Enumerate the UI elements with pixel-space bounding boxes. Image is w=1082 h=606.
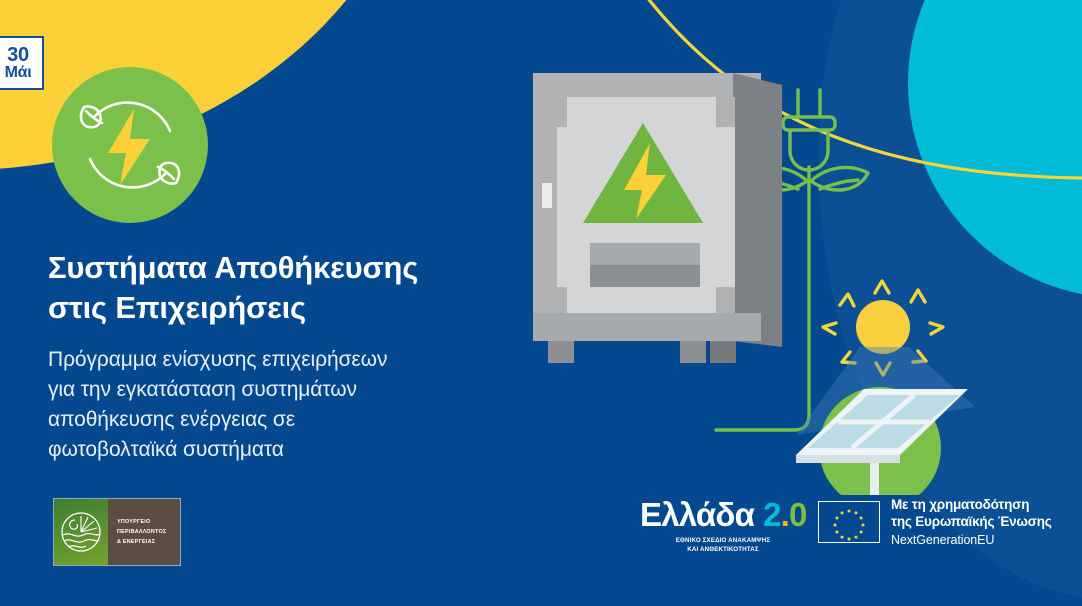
subtitle-line-4: φωτοβολταϊκά συστήματα: [48, 438, 284, 461]
ministry-line-1: ΥΠΟΥΡΓΕΙΟ: [117, 517, 180, 527]
subtitle-line-1: Πρόγραμμα ενίσχυσης επιχειρήσεων: [48, 348, 387, 371]
eu-line-3: NextGenerationEU: [891, 532, 1052, 548]
greece-sub-line-2: ΚΑΙ ΑΝΘΕΚΤΙΚΟΤΗΤΑΣ: [640, 545, 806, 554]
date-badge: 30 Μάι: [0, 36, 44, 90]
title-line-2: στις Επιχειρήσεις: [48, 290, 306, 325]
subtitle-line-2: για την εγκατάσταση συστημάτων: [48, 378, 357, 401]
greece-num-2: 2: [763, 496, 781, 533]
greece-subtitle: ΕΘΝΙΚΟ ΣΧΕΔΙΟ ΑΝΑΚΑΜΨΗΣ ΚΑΙ ΑΝΘΕΚΤΙΚΟΤΗΤ…: [640, 536, 806, 555]
eu-line-2: της Ευρωπαϊκής Ένωσης: [891, 513, 1052, 530]
eu-line-1: Με τη χρηματοδότηση: [891, 496, 1052, 513]
subtitle-line-3: αποθήκευσης ενέργειας σε: [48, 408, 295, 431]
title-line-1: Συστήματα Αποθήκευσης: [48, 250, 418, 285]
title-block: Συστήματα Αποθήκευσης στις Επιχειρήσεις …: [48, 248, 518, 465]
eu-funding-logo: Με τη χρηματοδότηση της Ευρωπαϊκής Ένωση…: [818, 496, 1052, 548]
ministry-text: ΥΠΟΥΡΓΕΙΟ ΠΕΡΙΒΑΛΛΟΝΤΟΣ & ΕΝΕΡΓΕΙΑΣ: [108, 499, 180, 565]
poster-canvas: 30 Μάι Συστήματα Αποθήκευσης στις Επιχει…: [0, 0, 1082, 606]
date-month: Μάι: [5, 65, 32, 81]
ministry-emblem-icon: [54, 499, 108, 565]
page-subtitle: Πρόγραμμα ενίσχυσης επιχειρήσεων για την…: [48, 345, 518, 464]
eu-text: Με τη χρηματοδότηση της Ευρωπαϊκής Ένωση…: [891, 496, 1052, 548]
energy-storage-illustration: [520, 55, 1080, 495]
energy-recycle-icon: [50, 65, 210, 225]
battery-storage-cabinet: [533, 73, 782, 363]
sun-disc: [856, 300, 910, 354]
greece-dot: .: [781, 496, 789, 533]
ministry-logo: ΥΠΟΥΡΓΕΙΟ ΠΕΡΙΒΑΛΛΟΝΤΟΣ & ΕΝΕΡΓΕΙΑΣ: [53, 498, 181, 566]
page-title: Συστήματα Αποθήκευσης στις Επιχειρήσεις: [48, 248, 518, 327]
ministry-line-3: & ΕΝΕΡΓΕΙΑΣ: [117, 537, 180, 547]
greece-sub-line-1: ΕΘΝΙΚΟ ΣΧΕΔΙΟ ΑΝΑΚΑΜΨΗΣ: [640, 536, 806, 545]
footer-logos: ΥΠΟΥΡΓΕΙΟ ΠΕΡΙΒΑΛΛΟΝΤΟΣ & ΕΝΕΡΓΕΙΑΣ Ελλά…: [0, 486, 1082, 606]
greece-2-0-logo: Ελλάδα2.0 ΕΘΝΙΚΟ ΣΧΕΔΙΟ ΑΝΑΚΑΜΨΗΣ ΚΑΙ ΑΝ…: [640, 498, 806, 555]
greece-num-0: 0: [789, 496, 807, 533]
eu-flag-icon: [818, 501, 880, 543]
ministry-line-2: ΠΕΡΙΒΑΛΛΟΝΤΟΣ: [117, 527, 180, 537]
date-day: 30: [7, 45, 29, 65]
greece-wordmark: Ελλάδα2.0: [640, 498, 806, 531]
greece-word: Ελλάδα: [640, 496, 754, 533]
